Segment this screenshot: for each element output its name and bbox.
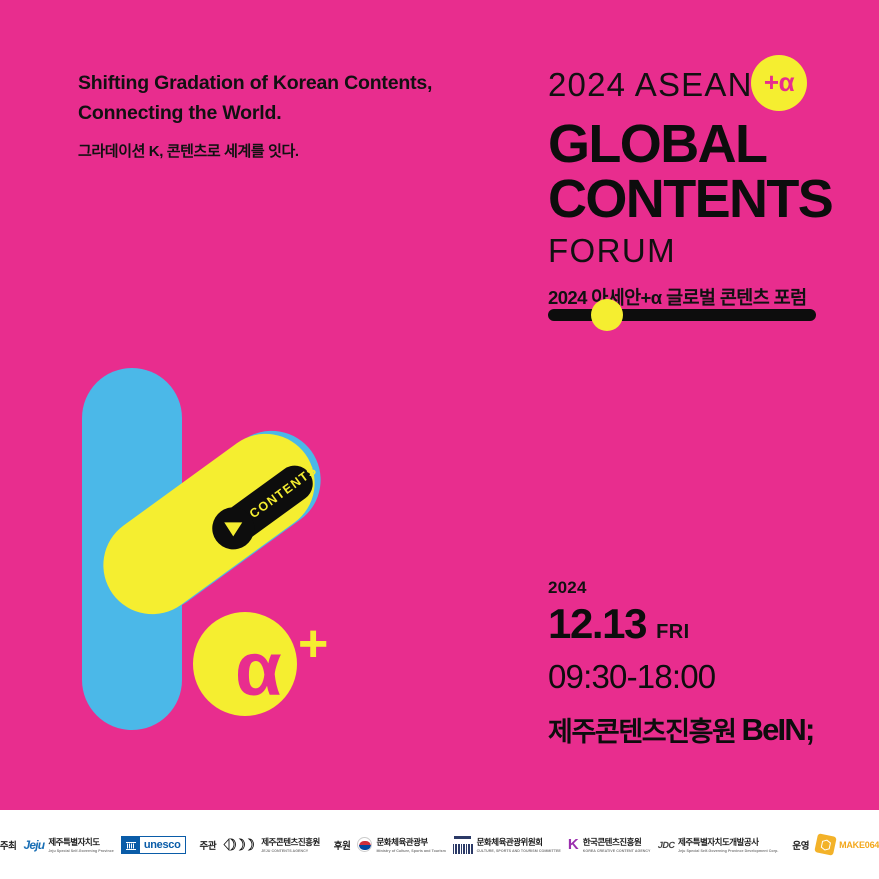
logo-name: 제주특별자치도 bbox=[48, 836, 114, 848]
title-contents: CONTENTS bbox=[548, 173, 828, 226]
sponsor-role-label: 주관 bbox=[200, 838, 217, 852]
event-day-of-week: FRI bbox=[656, 621, 689, 644]
logo-subtitle: CULTURE, SPORTS AND TOURISM COMMITTEE bbox=[477, 849, 561, 853]
jeju-wordmark-icon: Jeju bbox=[24, 838, 45, 852]
logo-text: 문화체육관광위원회 CULTURE, SPORTS AND TOURISM CO… bbox=[477, 836, 561, 853]
sponsor-group-operation: 운영 MAKE064 bbox=[792, 835, 879, 854]
logo-name: 제주특별자치도개발공사 bbox=[678, 836, 778, 848]
tagline-line-2: Connecting the World. bbox=[78, 98, 548, 128]
sponsor-role-label: 후원 bbox=[334, 838, 351, 852]
logo-subtitle: Ministry of Culture, Sports and Tourism bbox=[376, 849, 445, 853]
title-line-1-text: 2024 ASEAN bbox=[548, 66, 753, 103]
kocca-k-icon: K bbox=[568, 837, 579, 852]
logo-name: 한국콘텐츠진흥원 bbox=[583, 836, 651, 848]
logo-ministry-culture: 문화체육관광부 Ministry of Culture, Sports and … bbox=[357, 836, 445, 853]
logo-subtitle: KOREA CREATIVE CONTENT AGENCY bbox=[583, 849, 651, 853]
tagline-line-1: Shifting Gradation of Korean Contents, bbox=[78, 68, 548, 98]
logo-jdc: JDC 제주특별자치도개발공사 Jeju Special Self-Govern… bbox=[658, 836, 779, 853]
unesco-wordmark: unesco bbox=[140, 839, 185, 851]
make064-hex-icon bbox=[814, 833, 837, 856]
alpha-badge: +α bbox=[751, 55, 807, 111]
slider-knob[interactable] bbox=[591, 299, 623, 331]
logo-name: 제주콘텐츠진흥원 bbox=[261, 836, 320, 848]
poster-canvas: Shifting Gradation of Korean Contents, C… bbox=[0, 0, 879, 879]
event-dateline: 12.13 FRI bbox=[548, 602, 848, 646]
logo-subtitle: JEJU CONTENTS AGENCY bbox=[261, 849, 320, 853]
title-block: 2024 ASEAN +α GLOBAL CONTENTS FORUM 2024… bbox=[548, 68, 828, 310]
sponsor-role-label: 운영 bbox=[792, 838, 809, 852]
title-forum: FORUM bbox=[548, 232, 828, 270]
logo-jeju-contents-agency: 제주콘텐츠진흥원 JEJU CONTENTS AGENCY bbox=[223, 836, 320, 853]
logo-name: 문화체육관광위원회 bbox=[477, 836, 561, 848]
logo-text: 문화체육관광부 Ministry of Culture, Sports and … bbox=[376, 836, 445, 853]
sponsor-footer: 주최 Jeju 제주특별자치도 Jeju Special Self-Govern… bbox=[0, 810, 879, 879]
logo-text: 한국콘텐츠진흥원 KOREA CREATIVE CONTENT AGENCY bbox=[583, 836, 651, 853]
sponsor-group-host: 주최 Jeju 제주특별자치도 Jeju Special Self-Govern… bbox=[0, 836, 186, 854]
slider-track bbox=[548, 309, 816, 321]
alpha-glyph: α bbox=[235, 632, 280, 708]
decorative-slider[interactable] bbox=[548, 304, 816, 325]
venue-logo: BeIN; bbox=[742, 712, 814, 748]
sponsor-group-support: 후원 문화체육관광부 Ministry of Culture, Sports a… bbox=[334, 836, 779, 854]
logo-name: 문화체육관광부 bbox=[376, 836, 445, 848]
logo-text: 제주콘텐츠진흥원 JEJU CONTENTS AGENCY bbox=[261, 836, 320, 853]
unesco-temple-icon bbox=[122, 836, 140, 854]
sponsor-group-organizer: 주관 제주콘텐츠진흥원 JEJU CONTENTS AGENCY bbox=[200, 836, 320, 853]
event-info-block: 2024 12.13 FRI 09:30-18:00 제주콘텐츠진흥원 BeIN… bbox=[548, 578, 848, 749]
venue-name: 제주콘텐츠진흥원 bbox=[548, 710, 736, 749]
plus-glyph: + bbox=[298, 618, 328, 670]
logo-subtitle: Jeju Special Self-Governing Province bbox=[48, 849, 114, 853]
logo-kocca: K 한국콘텐츠진흥원 KOREA CREATIVE CONTENT AGENCY bbox=[568, 836, 651, 853]
k-logo-graphic: CONTENTS α + bbox=[60, 360, 360, 740]
logo-subtitle: Jeju Special Self-Governing Province Dev… bbox=[678, 849, 778, 853]
make064-wordmark: MAKE064 bbox=[839, 840, 879, 850]
logo-make064: MAKE064 bbox=[816, 835, 879, 854]
logo-text: 제주특별자치도 Jeju Special Self-Governing Prov… bbox=[48, 836, 114, 853]
logo-text: 제주특별자치도개발공사 Jeju Special Self-Governing … bbox=[678, 836, 778, 853]
sponsor-role-label: 주최 bbox=[0, 838, 17, 852]
event-date: 12.13 bbox=[548, 602, 646, 646]
logo-culture-committee: 문화체육관광위원회 CULTURE, SPORTS AND TOURISM CO… bbox=[453, 836, 561, 854]
logo-jeju-province: Jeju 제주특별자치도 Jeju Special Self-Governing… bbox=[24, 836, 114, 853]
assembly-building-icon bbox=[453, 836, 473, 854]
event-time: 09:30-18:00 bbox=[548, 658, 848, 696]
event-venue: 제주콘텐츠진흥원 BeIN; bbox=[548, 710, 848, 749]
event-year: 2024 bbox=[548, 578, 848, 598]
logo-unesco: unesco bbox=[121, 836, 186, 854]
tagline-korean: 그라데이션 K, 콘텐츠로 세계를 잇다. bbox=[78, 140, 548, 161]
taegeuk-icon bbox=[357, 837, 372, 852]
tagline-block: Shifting Gradation of Korean Contents, C… bbox=[78, 68, 548, 161]
title-global: GLOBAL bbox=[548, 118, 828, 171]
title-line-1: 2024 ASEAN +α bbox=[548, 68, 828, 112]
jca-symbol-icon bbox=[223, 837, 257, 852]
jdc-symbol-icon: JDC bbox=[657, 840, 675, 850]
